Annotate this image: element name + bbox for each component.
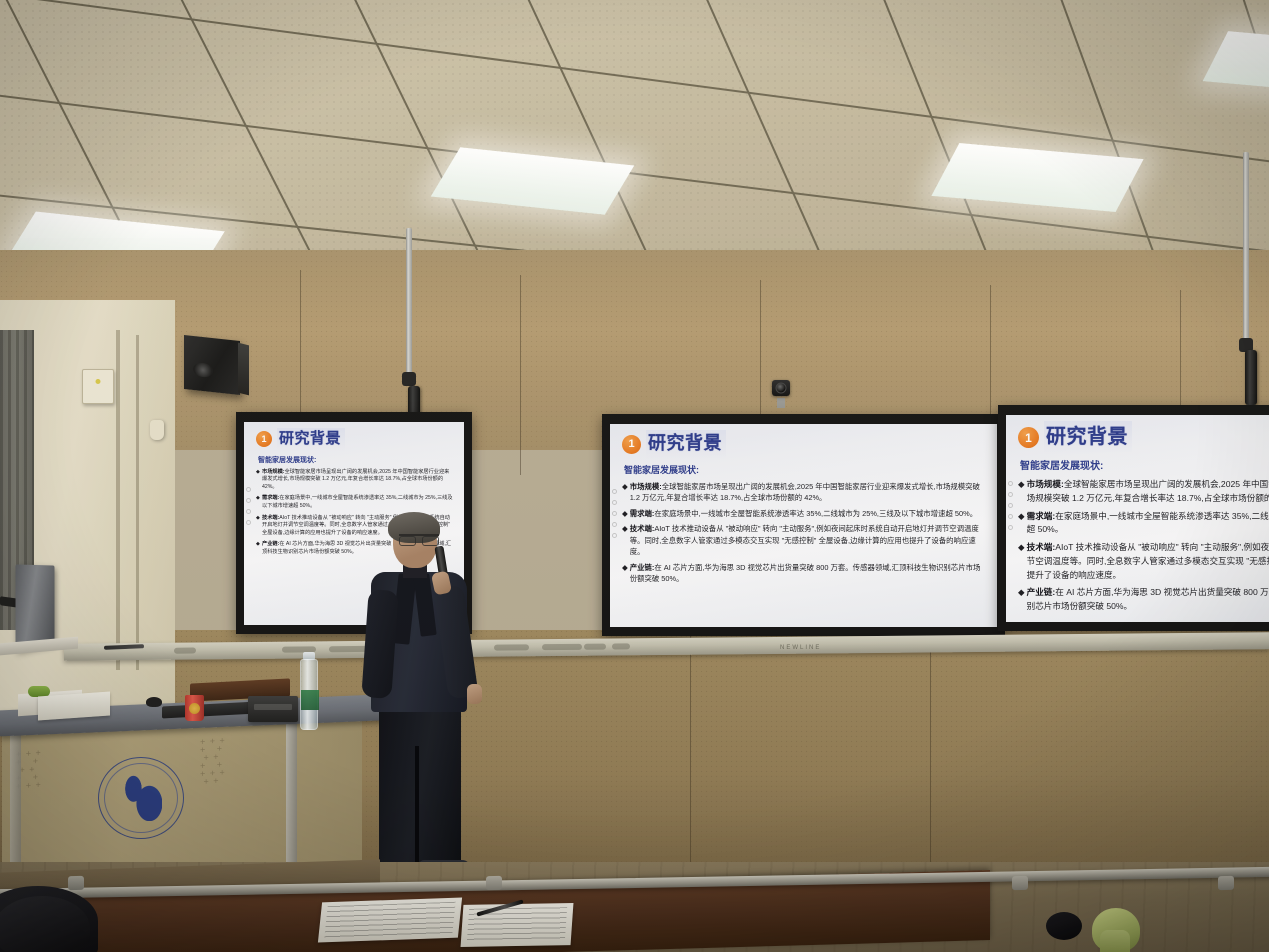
- gutter-dot-icon: [612, 500, 617, 505]
- podium-leg: [286, 722, 297, 872]
- gutter-dot-icon: [246, 520, 251, 525]
- wall-seam: [520, 275, 521, 475]
- bullet-lead: 市场规模:: [630, 482, 662, 491]
- presenter-legs: [379, 706, 461, 872]
- slide-bullet: ◆ 需求端:在家庭场景中,一线城市全屋智能系统渗透率达 35%,二线城市为 25…: [1018, 510, 1269, 538]
- podium-monitor[interactable]: [16, 564, 55, 650]
- bullet-marker-icon: ◆: [1018, 510, 1025, 538]
- glasses-icon: [399, 534, 439, 542]
- bullet-marker-icon: ◆: [256, 515, 260, 538]
- bottle-body: [300, 659, 318, 730]
- bullet-marker-icon: ◆: [256, 495, 260, 510]
- gutter-dot-icon: [246, 498, 251, 503]
- bullet-lead: 技术端:: [262, 515, 279, 521]
- bullet-text: 需求端:在家庭场景中,一线城市全屋智能系统渗透率达 35%,二线城市为 25%,…: [630, 508, 987, 519]
- speaker-cone-icon: [193, 362, 213, 378]
- bullet-marker-icon: ◆: [622, 523, 628, 557]
- slide-subtitle: 智能家居发展现状:: [624, 464, 987, 478]
- slide-bullet: ◆ 产业链:在 AI 芯片方面,华为海思 3D 视觉芯片出货量突破 800 万套…: [622, 562, 987, 585]
- slide-title: 研究背景: [646, 430, 726, 459]
- tray-slot: [612, 643, 630, 649]
- status-led-icon: [96, 379, 101, 384]
- wall-seam: [690, 630, 691, 870]
- right-display[interactable]: 1 研究背景 智能家居发展现状: ◆ 市场规模:全球智能家居市场呈现出广阔的发展…: [998, 405, 1269, 631]
- bullet-body: 全球智能家居市场呈现出广阔的发展机会,2025 年中国智能家居行业迎来爆发式增长…: [262, 469, 449, 490]
- bullet-body: 在家庭场景中,一线城市全屋智能系统渗透率达 35%,二线城市为 25%,三线及以…: [1027, 511, 1269, 535]
- gutter-dot-icon: [246, 487, 251, 492]
- wall-speaker: [184, 335, 240, 395]
- bullet-text: 市场规模:全球智能家居市场呈现出广阔的发展机会,2025 年中国智能家居行业迎来…: [1027, 478, 1269, 506]
- bullet-lead: 需求端:: [262, 495, 279, 501]
- slide-bullet: ◆ 产业链:在 AI 芯片方面,华为海思 3D 视觉芯片出货量突破 800 万套…: [1018, 586, 1269, 614]
- podium-perforation-pattern: + + ++ + + ++ ++ + + + +: [200, 736, 226, 786]
- rail-joint: [68, 876, 84, 890]
- bullet-lead: 产业链:: [1027, 587, 1056, 597]
- bullet-body: 在家庭场景中,一线城市全屋智能系统渗透率达 35%,二线城市为 25%,三线及以…: [262, 495, 453, 509]
- tray-slot: [542, 644, 582, 650]
- amplifier-box: [248, 696, 298, 722]
- tray-brand-label: NEWLINE: [780, 645, 821, 651]
- bullet-text: 产业链:在 AI 芯片方面,华为海思 3D 视觉芯片出货量突破 800 万套。传…: [630, 562, 987, 585]
- desk-paper-left: [318, 897, 462, 942]
- wall-speaker-side: [238, 343, 249, 396]
- gutter-dot-icon: [1008, 492, 1013, 497]
- bullet-text: 产业链:在 AI 芯片方面,华为海思 3D 视觉芯片出货量突破 800 万套。传…: [1027, 586, 1269, 614]
- tray-slot: [584, 644, 606, 650]
- bullet-text: 需求端:在家庭场景中,一线城市全屋智能系统渗透率达 35%,二线城市为 25%,…: [262, 495, 454, 510]
- gutter-dot-icon: [612, 522, 617, 527]
- slide-right: 1 研究背景 智能家居发展现状: ◆ 市场规模:全球智能家居市场呈现出广阔的发展…: [1006, 415, 1269, 622]
- logo-wave-mark-icon: [120, 775, 162, 821]
- gutter-dot-icon: [612, 533, 617, 538]
- slide-bullet: ◆ 市场规模:全球智能家居市场呈现出广阔的发展机会,2025 年中国智能家居行业…: [1018, 478, 1269, 506]
- bullet-text: 技术端:AIoT 技术推动设备从 "被动响应" 转向 "主动服务",例如夜间起床…: [1027, 541, 1269, 582]
- gutter-dot-icon: [612, 511, 617, 516]
- bullet-body: 全球智能家居市场呈现出广阔的发展机会,2025 年中国智能家居行业迎来爆发式增长…: [1027, 479, 1269, 503]
- bullet-body: AIoT 技术推动设备从 "被动响应" 转向 "主动服务",例如夜间起床时系统自…: [1027, 542, 1269, 580]
- bullet-body: 全球智能家居市场呈现出广阔的发展机会,2025 年中国智能家居行业迎来爆发式增长…: [630, 482, 980, 502]
- slide-badge: 1: [256, 431, 272, 447]
- tray-slot: [174, 648, 196, 654]
- paper-text-lines: [324, 902, 455, 939]
- slide-subtitle: 智能家居发展现状:: [1020, 459, 1269, 475]
- slide-badge: 1: [1018, 427, 1039, 448]
- desk-paper-right: [461, 903, 574, 947]
- slide-center: 1 研究背景 智能家居发展现状: ◆ 市场规模:全球智能家居市场呈现出广阔的发展…: [610, 424, 997, 627]
- bullet-marker-icon: ◆: [622, 562, 628, 585]
- rail-joint: [1218, 876, 1234, 890]
- slide-subtitle: 智能家居发展现状:: [258, 456, 454, 466]
- slide-bullet: ◆ 技术端:AIoT 技术推动设备从 "被动响应" 转向 "主动服务",例如夜间…: [622, 523, 987, 557]
- presenter-hand-right: [467, 684, 482, 704]
- bullet-lead: 市场规模:: [262, 469, 284, 475]
- bullet-marker-icon: ◆: [256, 541, 260, 556]
- ceiling-mic-rod: [406, 228, 412, 376]
- bullet-marker-icon: ◆: [256, 469, 260, 492]
- slide-header: 1 研究背景: [1018, 421, 1269, 454]
- bullet-marker-icon: ◆: [1018, 478, 1025, 506]
- bullet-lead: 产业链:: [630, 563, 655, 572]
- slide-title: 研究背景: [1044, 421, 1132, 454]
- slide-gutter-icons: [1008, 481, 1013, 530]
- rail-joint: [486, 876, 502, 890]
- slide-bullet: ◆ 技术端:AIoT 技术推动设备从 "被动响应" 转向 "主动服务",例如夜间…: [1018, 541, 1269, 582]
- bullet-lead: 技术端:: [1027, 542, 1056, 552]
- presenter: [355, 516, 505, 892]
- slide-badge: 1: [622, 435, 641, 454]
- camera-stem: [777, 398, 785, 408]
- slide-gutter-icons: [612, 489, 617, 538]
- computer-mouse[interactable]: [146, 697, 162, 707]
- gutter-dot-icon: [612, 489, 617, 494]
- slide-header: 1 研究背景: [622, 430, 987, 459]
- bullet-body: AIoT 技术推动设备从 "被动响应" 转向 "主动服务",例如夜间起床时系统自…: [630, 524, 979, 556]
- slide-bullet: ◆ 需求端:在家庭场景中,一线城市全屋智能系统渗透率达 35%,二线城市为 25…: [256, 495, 454, 510]
- ceiling-mic-rod: [1243, 152, 1249, 342]
- university-logo: [98, 757, 184, 839]
- gutter-dot-icon: [1008, 525, 1013, 530]
- rail-joint: [1012, 876, 1028, 890]
- bullet-marker-icon: ◆: [1018, 586, 1025, 614]
- bullet-body: 在家庭场景中,一线城市全屋智能系统渗透率达 35%,二线城市为 25%,三线及以…: [654, 509, 977, 518]
- center-display[interactable]: 1 研究背景 智能家居发展现状: ◆ 市场规模:全球智能家居市场呈现出广阔的发展…: [602, 414, 1005, 636]
- paper-cup: [185, 695, 204, 721]
- presenter-leg-split: [415, 746, 419, 872]
- hanging-microphone: [1245, 350, 1257, 405]
- wall-seam: [930, 630, 931, 870]
- bullet-body: 在 AI 芯片方面,华为海思 3D 视觉芯片出货量突破 800 万套。传感器领域…: [630, 563, 981, 583]
- bullet-marker-icon: ◆: [622, 481, 628, 504]
- bullet-lead: 需求端:: [1027, 511, 1056, 521]
- lecture-hall-scene: 1 研究背景 智能家居发展现状: ◆ 市场规模:全球智能家居市场呈现出广阔的发展…: [0, 0, 1269, 952]
- bullet-text: 市场规模:全球智能家居市场呈现出广阔的发展机会,2025 年中国智能家居行业迎来…: [262, 469, 454, 492]
- gutter-dot-icon: [246, 509, 251, 514]
- bullet-text: 技术端:AIoT 技术推动设备从 "被动响应" 转向 "主动服务",例如夜间起床…: [630, 523, 987, 557]
- bullet-lead: 产业链:: [262, 541, 279, 547]
- door-frame: [116, 330, 120, 670]
- bullet-lead: 技术端:: [630, 524, 655, 533]
- right-display-panel: 1 研究背景 智能家居发展现状: ◆ 市场规模:全球智能家居市场呈现出广阔的发展…: [1006, 415, 1269, 622]
- bullet-lead: 市场规模:: [1027, 479, 1064, 489]
- conference-camera-icon: [772, 380, 790, 396]
- slide-gutter-icons: [246, 487, 251, 525]
- water-bottle: [300, 652, 318, 730]
- slide-bullets: ◆ 市场规模:全球智能家居市场呈现出广阔的发展机会,2025 年中国智能家居行业…: [622, 481, 987, 585]
- door-frame: [136, 335, 139, 670]
- gutter-dot-icon: [1008, 503, 1013, 508]
- bullet-lead: 需求端:: [630, 509, 655, 518]
- gutter-dot-icon: [1008, 514, 1013, 519]
- bullet-text: 需求端:在家庭场景中,一线城市全屋智能系统渗透率达 35%,二线城市为 25%,…: [1027, 510, 1269, 538]
- wall-control-panel[interactable]: [82, 369, 114, 404]
- audience-head-right-lower: [1100, 930, 1130, 952]
- slide-bullet: ◆ 需求端:在家庭场景中,一线城市全屋智能系统渗透率达 35%,二线城市为 25…: [622, 508, 987, 519]
- bullet-body: 在 AI 芯片方面,华为海思 3D 视觉芯片出货量突破 800 万套。传感器领域…: [1027, 587, 1269, 611]
- podium-leg: [10, 726, 21, 876]
- bullet-marker-icon: ◆: [622, 508, 628, 519]
- slide-title: 研究背景: [277, 428, 345, 451]
- audience-object-right: [1046, 912, 1082, 940]
- podium-papers: [38, 691, 110, 720]
- slide-bullet: ◆ 市场规模:全球智能家居市场呈现出广阔的发展机会,2025 年中国智能家居行业…: [622, 481, 987, 504]
- slide-bullets: ◆ 市场规模:全球智能家居市场呈现出广阔的发展机会,2025 年中国智能家居行业…: [1018, 478, 1269, 614]
- bottle-label: [301, 690, 319, 710]
- bullet-text: 市场规模:全球智能家居市场呈现出广阔的发展机会,2025 年中国智能家居行业迎来…: [630, 481, 987, 504]
- mic-rod-joint: [402, 372, 416, 386]
- slide-header: 1 研究背景: [256, 428, 454, 451]
- bullet-marker-icon: ◆: [1018, 541, 1025, 582]
- gutter-dot-icon: [1008, 481, 1013, 486]
- slide-bullet: ◆ 市场规模:全球智能家居市场呈现出广阔的发展机会,2025 年中国智能家居行业…: [256, 469, 454, 492]
- motion-sensor-icon: [150, 420, 164, 440]
- center-display-panel: 1 研究背景 智能家居发展现状: ◆ 市场规模:全球智能家居市场呈现出广阔的发展…: [610, 424, 997, 627]
